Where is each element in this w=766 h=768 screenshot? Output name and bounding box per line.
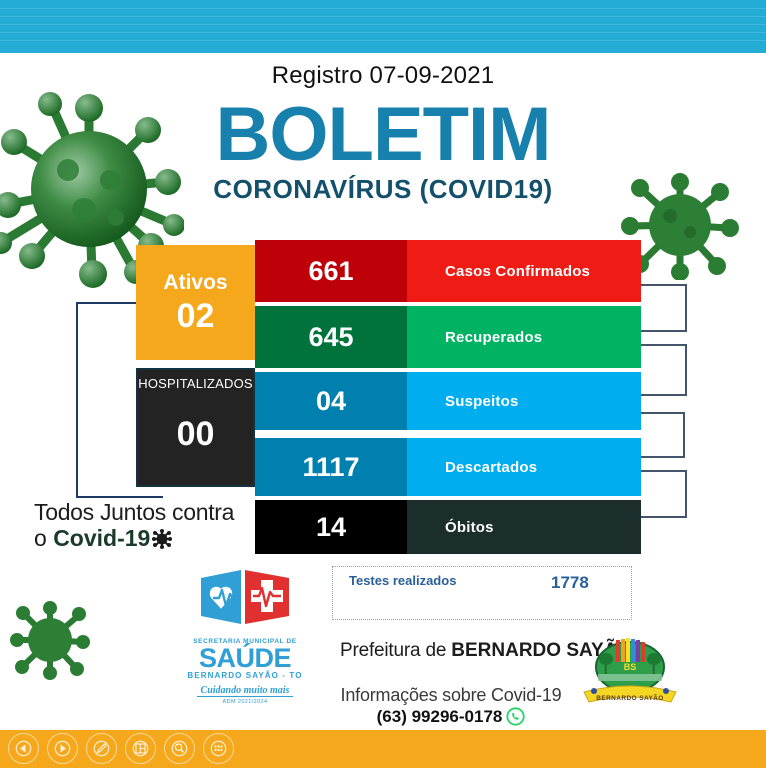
zoom-icon[interactable]: [164, 733, 195, 764]
saude-logo-mark: [193, 562, 297, 632]
layout-icon[interactable]: [125, 733, 156, 764]
saude-logo-tagline: Cuidando muito mais: [197, 685, 294, 697]
stat-bar-recuperados-label: Recuperados: [407, 306, 641, 368]
stat-bar-descartados: 1117 Descartados: [255, 438, 641, 496]
more-grid-icon[interactable]: [203, 733, 234, 764]
contact-block: Informações sobre Covid-19 (63) 99296-01…: [336, 685, 566, 731]
stat-bar-casos-confirmados-value: 661: [255, 240, 407, 302]
slogan-line-2: o Covid-19: [34, 525, 264, 554]
testes-realizados-box: Testes realizados 1778: [332, 566, 632, 620]
stat-card-ativos: Ativos 02: [136, 245, 255, 360]
stat-bar-recuperados-value: 645: [255, 306, 407, 368]
contact-heading: Informações sobre Covid-19: [336, 685, 566, 706]
stat-card-ativos-value: 02: [177, 297, 215, 335]
slogan-line-1: Todos Juntos contra: [34, 500, 264, 525]
pen-icon[interactable]: [86, 733, 117, 764]
stat-bar-obitos-label: Óbitos: [407, 500, 641, 554]
saude-logo-line-3: BERNARDO SAYÃO - TO: [180, 671, 310, 680]
stat-bar-suspeitos: 04 Suspeitos: [255, 372, 641, 430]
stat-bar-suspeitos-value: 04: [255, 372, 407, 430]
testes-realizados-label: Testes realizados: [349, 573, 456, 588]
stat-bar-suspeitos-label: Suspeitos: [407, 372, 641, 430]
next-icon[interactable]: [47, 733, 78, 764]
stat-card-hospitalizados: HOSPITALIZADOS 00: [136, 368, 255, 487]
bottom-toolbar: [0, 730, 766, 768]
stat-bar-recuperados: 645 Recuperados: [255, 306, 641, 368]
testes-realizados-value: 1778: [551, 573, 589, 593]
page-title: BOLETIM: [0, 98, 766, 172]
saude-logo-adm: ADM 2021/2024: [180, 699, 310, 705]
virus-illustration-bottom-left: [10, 600, 90, 680]
stat-bar-obitos-value: 14: [255, 500, 407, 554]
stat-bar-casos-confirmados: 661 Casos Confirmados: [255, 240, 641, 302]
stat-card-ativos-label: Ativos: [163, 271, 227, 295]
stat-bar-descartados-value: 1117: [255, 438, 407, 496]
previous-icon[interactable]: [8, 733, 39, 764]
boletim-poster: Registro 07-09-2021: [0, 0, 766, 768]
right-bracket-connector-2: [641, 344, 687, 396]
page-subtitle: CORONAVÍRUS (COVID19): [0, 174, 766, 205]
right-bracket-connector-4: [641, 470, 687, 518]
slogan-line-2-bold: Covid-19: [53, 525, 150, 551]
slogan-block: Todos Juntos contra o Covid-19: [34, 500, 264, 554]
stat-bar-descartados-label: Descartados: [407, 438, 641, 496]
right-bracket-connector-3: [641, 412, 685, 458]
record-date: Registro 07-09-2021: [0, 62, 766, 90]
stat-bar-casos-confirmados-label: Casos Confirmados: [407, 240, 641, 302]
prefeitura-prefix: Prefeitura de: [340, 640, 451, 661]
stat-card-hospitalizados-label: HOSPITALIZADOS: [138, 376, 253, 391]
whatsapp-icon[interactable]: [506, 707, 525, 731]
stat-card-hospitalizados-value: 00: [177, 415, 215, 454]
municipal-coat-of-arms: BS BERNARDO SAYÃO: [578, 634, 682, 710]
contact-phone: (63) 99296-0178: [377, 707, 503, 726]
poster-title-block: BOLETIM CORONAVÍRUS (COVID19): [0, 98, 766, 205]
coat-of-arms-banner-text: BERNARDO SAYÃO: [596, 693, 663, 702]
saude-logo-line-2: SAÚDE: [180, 645, 310, 671]
contact-phone-line: (63) 99296-0178: [336, 707, 566, 731]
right-bracket-connector-1: [641, 284, 687, 332]
top-color-band: [0, 0, 766, 53]
slogan-line-2-prefix: o: [34, 525, 53, 551]
stat-bar-obitos: 14 Óbitos: [255, 500, 641, 554]
coat-of-arms-initials: BS: [624, 662, 637, 672]
secretaria-saude-logo: SECRETARIA MUNICIPAL DE SAÚDE BERNARDO S…: [180, 562, 310, 705]
virus-dot-icon: [152, 528, 172, 554]
